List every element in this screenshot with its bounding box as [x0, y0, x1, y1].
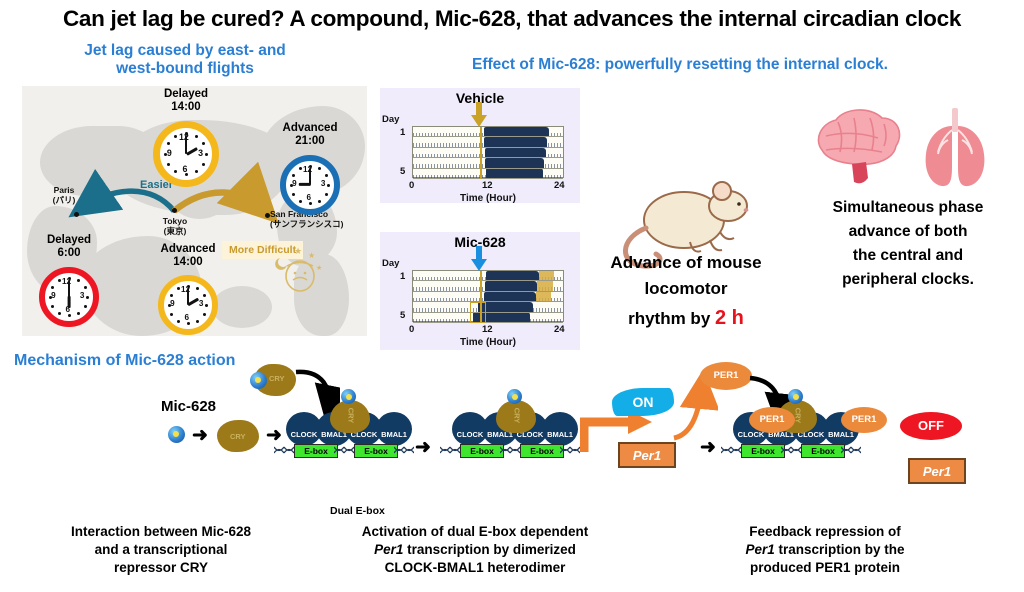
clock-tick	[167, 163, 170, 166]
offset-marker	[537, 281, 552, 290]
cry-label: CRY	[346, 408, 355, 424]
clock-tick	[195, 170, 198, 173]
clock-tick	[325, 193, 328, 196]
clock-tick	[202, 163, 205, 166]
clock-tick	[86, 296, 89, 299]
mic628-label: Mic-628	[161, 398, 216, 415]
dna-strand-icon	[440, 445, 460, 455]
clock-minute-hand	[187, 288, 189, 305]
clock-tick	[77, 312, 80, 315]
clock-tick	[187, 322, 190, 325]
clock-tick	[58, 312, 61, 315]
mech-cap3-l2: Per1 transcription by the	[700, 541, 950, 559]
clock-tick	[292, 193, 295, 196]
clock-time: 14:00	[138, 256, 238, 269]
clock-tick	[203, 294, 206, 297]
clock-tick	[318, 200, 321, 203]
ebox-label: E-box	[801, 444, 845, 458]
mech-cap2-l2: Per1 transcription by dimerized	[325, 541, 625, 559]
protein-lobe	[376, 412, 412, 446]
organ-caption-line2: advance of both	[800, 220, 1016, 244]
clock-tick	[196, 320, 199, 323]
clock-tick	[309, 202, 312, 205]
clock-tick	[51, 305, 54, 308]
actogram-mic628: Mic-628Day1501224Time (Hour)	[380, 232, 580, 350]
clock-numeral: 12	[179, 133, 189, 142]
dna-strand-icon	[500, 445, 520, 455]
clock-tick	[203, 313, 206, 316]
actogram-yaxis-label-mic628: Day	[382, 258, 399, 269]
mechanism-caption-2: Activation of dual E-box dependent Per1 …	[325, 523, 625, 578]
mechanism-caption-3: Feedback repression of Per1 transcriptio…	[700, 523, 950, 578]
clock-hour-hand	[187, 298, 198, 306]
dna-strand-icon	[721, 445, 741, 455]
clock-tick	[84, 286, 87, 289]
clock-numeral: 9	[292, 180, 297, 188]
clock-time: 14:00	[136, 101, 236, 114]
per1-gene-box: Per1	[908, 458, 966, 484]
actogram-ytick-first-mic628: 1	[400, 271, 405, 282]
offset-marker	[539, 271, 554, 280]
mech-cap1-l3: repressor CRY	[36, 559, 286, 577]
per1-protein: PER1	[841, 407, 887, 433]
arrow-right-icon: ➜	[266, 426, 282, 445]
mouse-caption: Advance of mouse locomotor rhythm by 2 h	[586, 250, 786, 334]
clock-minute-hand	[68, 280, 70, 297]
actogram-plot-mic628	[412, 270, 564, 322]
clock-tick	[174, 135, 177, 138]
mech-cap1-l1: Interaction between Mic-628	[36, 523, 286, 541]
mic628-molecule-icon	[788, 389, 803, 404]
actogram-plot-vehicle	[412, 126, 564, 178]
dosing-time-line	[480, 127, 482, 179]
organ-caption-line1: Simultaneous phase	[800, 196, 1016, 220]
actogram-xtick-0-vehicle: 0	[409, 180, 414, 191]
lungs-icon	[926, 108, 985, 186]
mech-cap3-l3: produced PER1 protein	[700, 559, 950, 577]
brain-icon	[818, 110, 899, 183]
advance-hours-highlight: 2 h	[715, 307, 744, 329]
actogram-activity-bout	[486, 169, 543, 178]
phase-advance-highlight	[470, 302, 486, 323]
clock-numeral: 9	[167, 149, 172, 158]
arrow-right-icon: ➜	[192, 426, 208, 445]
clock-numeral: 9	[51, 292, 56, 300]
clock-numeral: 3	[198, 149, 203, 158]
clock-tick	[196, 287, 199, 290]
actogram-activity-bout	[485, 148, 546, 157]
actogram-row	[413, 137, 563, 147]
mic628-molecule-icon	[250, 372, 267, 389]
clock-tick	[84, 305, 87, 308]
clock-sf-advanced: 12369	[280, 155, 340, 215]
actogram-xtick-12-mic628: 12	[482, 324, 493, 335]
dna-strand-icon	[841, 445, 861, 455]
cry-label: CRY	[269, 374, 285, 383]
clock-tick	[177, 320, 180, 323]
protein-lobe	[542, 412, 578, 446]
clock-state: Delayed	[19, 234, 119, 247]
arrow-right-icon: ➜	[700, 438, 716, 457]
dna-strand-icon	[334, 445, 354, 455]
cry-label: CRY	[230, 432, 246, 441]
actogram-row	[413, 127, 563, 137]
actogram-row	[413, 169, 563, 179]
clock-numeral: 3	[80, 292, 85, 300]
clock-numeral: 6	[185, 314, 190, 322]
mech-cap1-l2: and a transcriptional	[36, 541, 286, 559]
dual-ebox-label: Dual E-box	[330, 505, 385, 517]
clock-hour-hand	[185, 147, 197, 155]
actogram-ytick-last-vehicle: 5	[400, 166, 405, 177]
actogram-xtick-24-mic628: 24	[554, 324, 565, 335]
bmal1-label: BMAL1	[541, 430, 579, 439]
clock-tick	[58, 279, 61, 282]
dna-strand-icon	[274, 445, 294, 455]
mech-cap2-l3: CLOCK-BMAL1 heterodimer	[325, 559, 625, 577]
clock-group: Delayed14:0012369Advanced21:0012369Delay…	[0, 0, 420, 345]
dna-strand-icon	[781, 445, 801, 455]
bmal1-label: BMAL1	[375, 430, 413, 439]
mech-cap2-l1: Activation of dual E-box dependent	[325, 523, 625, 541]
clock-state: Advanced	[138, 243, 238, 256]
mouse-caption-line3-pre: rhythm by	[628, 309, 715, 328]
clock-paris-delayed-top: 12369	[153, 121, 219, 187]
actogram-activity-bout	[486, 271, 539, 280]
actogram-activity-bout	[484, 292, 536, 301]
actogram-activity-bout	[485, 158, 544, 167]
clock-label-tokyo-advanced: Advanced14:00	[138, 243, 238, 268]
mech-cap3-l1: Feedback repression of	[700, 523, 950, 541]
mic628-molecule-icon	[507, 389, 522, 404]
clock-tick	[167, 142, 170, 145]
clock-time: 21:00	[260, 135, 360, 148]
clock-tick	[195, 135, 198, 138]
arrow-right-icon: ➜	[415, 438, 431, 457]
transcription-off-badge: OFF	[900, 412, 962, 440]
clock-state: Delayed	[136, 88, 236, 101]
organs-illustration	[808, 100, 1008, 195]
actogram-activity-bout	[484, 127, 549, 136]
actogram-ytick-last-mic628: 5	[400, 310, 405, 321]
clock-tick	[299, 167, 302, 170]
actogram-xtick-24-vehicle: 24	[554, 180, 565, 191]
mechanism-caption-1: Interaction between Mic-628 and a transc…	[36, 523, 286, 578]
clock-minute-hand	[309, 168, 311, 185]
clock-tick	[299, 200, 302, 203]
mouse-caption-line1: Advance of mouse	[586, 250, 786, 276]
organ-caption: Simultaneous phase advance of both the c…	[800, 196, 1016, 292]
clock-tick	[170, 294, 173, 297]
actogram-activity-bout	[484, 137, 547, 146]
actogram-ytick-first-vehicle: 1	[400, 127, 405, 138]
organ-caption-line3: the central and	[800, 244, 1016, 268]
clock-tick	[292, 174, 295, 177]
clock-tick	[170, 313, 173, 316]
mic628-molecule-icon	[168, 426, 185, 443]
clock-state: Advanced	[260, 122, 360, 135]
clock-tick	[51, 286, 54, 289]
ebox-label: E-box	[294, 444, 338, 458]
clock-label-paris-delayed-bottom: Delayed6:00	[19, 234, 119, 259]
actogram-row	[413, 302, 563, 312]
actogram-row	[413, 158, 563, 168]
clock-tick	[77, 279, 80, 282]
actogram-yaxis-label-vehicle: Day	[382, 114, 399, 125]
ebox-label: E-box	[460, 444, 504, 458]
clock-label-paris-delayed-top: Delayed14:00	[136, 88, 236, 113]
clock-tick	[202, 142, 205, 145]
clock-minute-hand	[185, 135, 187, 154]
clock-hour-hand	[68, 297, 71, 309]
clock-tick	[327, 184, 330, 187]
clock-label-sf-advanced: Advanced21:00	[260, 122, 360, 147]
mouse-caption-line2: locomotor	[586, 276, 786, 302]
clock-tokyo-advanced: 12369	[158, 275, 218, 335]
dose-arrow-mic628	[469, 246, 489, 272]
clock-numeral: 6	[307, 194, 312, 202]
mouse-caption-line3: rhythm by 2 h	[586, 303, 786, 334]
offset-marker	[536, 292, 551, 301]
dna-strand-icon	[560, 445, 580, 455]
cry-label: CRY	[512, 408, 521, 424]
actogram-activity-bout	[485, 281, 537, 290]
clock-time: 6:00	[19, 247, 119, 260]
actogram-xtick-12-vehicle: 12	[482, 180, 493, 191]
clock-numeral: 6	[183, 165, 188, 174]
clock-numeral: 3	[321, 180, 326, 188]
dna-strand-icon	[394, 445, 414, 455]
clock-tick	[205, 153, 208, 156]
ebox-label: E-box	[354, 444, 398, 458]
clock-tick	[68, 314, 71, 317]
clock-tick	[174, 170, 177, 173]
clock-tick	[325, 174, 328, 177]
dose-arrow-vehicle	[469, 102, 489, 128]
actogram-xaxis-label-mic628: Time (Hour)	[412, 337, 564, 348]
ebox-label: E-box	[741, 444, 785, 458]
actogram-row	[413, 313, 563, 323]
actogram-vehicle: VehicleDay1501224Time (Hour)	[380, 88, 580, 203]
actogram-xaxis-label-vehicle: Time (Hour)	[412, 193, 564, 204]
actogram-xtick-0-mic628: 0	[409, 324, 414, 335]
clock-tick	[177, 287, 180, 290]
clock-tick	[205, 304, 208, 307]
organ-caption-line4: peripheral clocks.	[800, 268, 1016, 292]
mic628-molecule-icon	[341, 389, 356, 404]
per1-protein: PER1	[749, 407, 795, 433]
section-heading-effect: Effect of Mic-628: powerfully resetting …	[380, 56, 980, 74]
actogram-row	[413, 148, 563, 158]
mechanism-diagram: Mic-628➜ CRY➜ CRY CLOCKBMAL1CLOCKBMAL1E-…	[0, 350, 1024, 540]
per1-protein: PER1	[700, 362, 752, 390]
clock-paris-delayed-bottom: 12369	[39, 267, 99, 327]
clock-tick	[318, 167, 321, 170]
ebox-label: E-box	[520, 444, 564, 458]
clock-numeral: 9	[170, 300, 175, 308]
clock-numeral: 3	[199, 300, 204, 308]
